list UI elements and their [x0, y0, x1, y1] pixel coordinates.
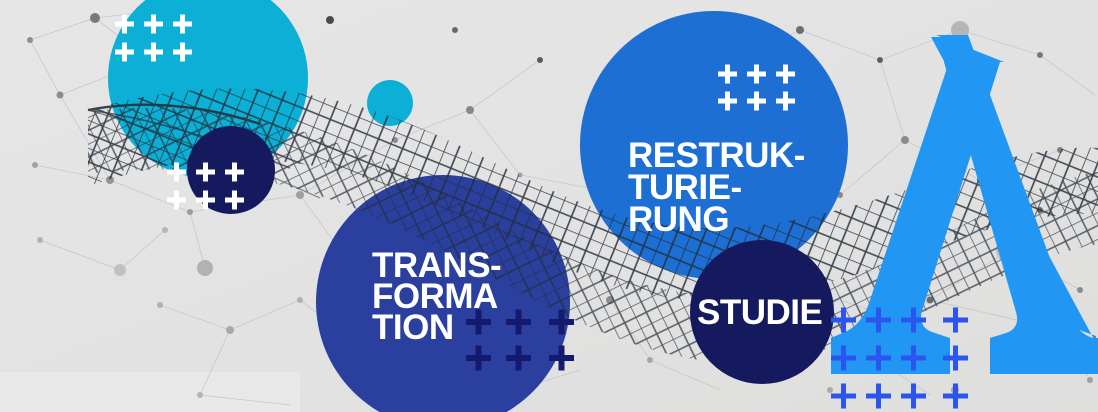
studie-circle[interactable]: [690, 240, 834, 384]
banner-canvas: [0, 0, 1098, 412]
background-light-band: [0, 372, 300, 412]
banner-graphic: TRANS- FORMA TION RESTRUK- TURIE- RUNG S…: [0, 0, 1098, 412]
